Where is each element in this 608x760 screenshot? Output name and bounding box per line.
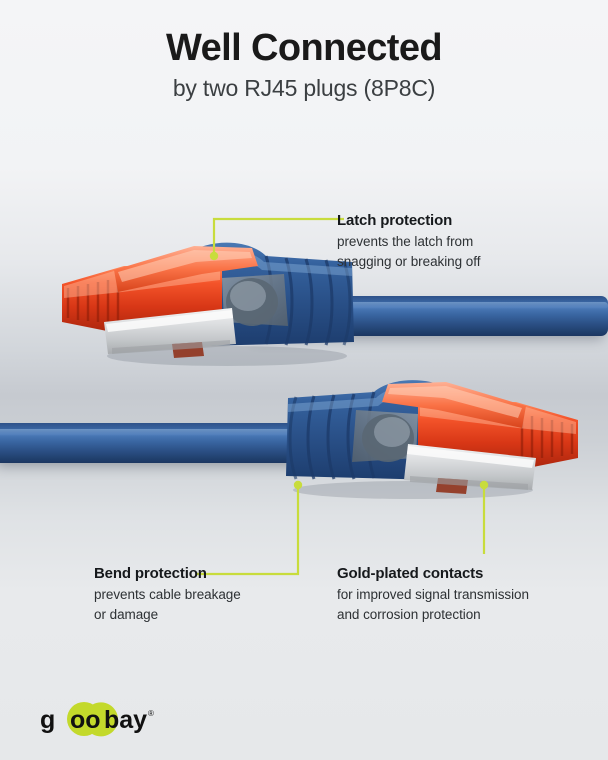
callout-title: Gold-plated contacts — [337, 565, 572, 582]
callout-line: for improved signal transmission — [337, 585, 572, 605]
callout-title: Latch protection — [337, 212, 567, 229]
callout-gold-plated-contacts: Gold-plated contacts for improved signal… — [337, 565, 572, 624]
logo-text-after: bay — [104, 706, 147, 734]
leader-line-latch — [206, 212, 346, 268]
callout-line: snagging or breaking off — [337, 252, 567, 272]
callout-latch-protection: Latch protection prevents the latch from… — [337, 212, 567, 271]
infographic-canvas: Well Connected by two RJ45 plugs (8P8C) — [0, 0, 608, 760]
logo-text-before: g — [40, 706, 55, 734]
callout-line: and corrosion protection — [337, 605, 572, 625]
page-title: Well Connected — [0, 28, 608, 69]
callout-line: prevents the latch from — [337, 232, 567, 252]
callout-title: Bend protection — [94, 565, 304, 582]
callout-line: or damage — [94, 605, 304, 625]
callout-line: prevents cable breakage — [94, 585, 304, 605]
goobay-logo: g oo bay ® — [40, 702, 160, 738]
rj45-connector-bottom — [268, 362, 588, 502]
leader-line-contacts — [478, 480, 490, 556]
logo-text-bubble: oo — [70, 706, 101, 734]
page-subtitle: by two RJ45 plugs (8P8C) — [0, 75, 608, 102]
callout-bend-protection: Bend protection prevents cable breakage … — [94, 565, 304, 624]
header: Well Connected by two RJ45 plugs (8P8C) — [0, 0, 608, 102]
logo-trademark: ® — [148, 709, 154, 718]
